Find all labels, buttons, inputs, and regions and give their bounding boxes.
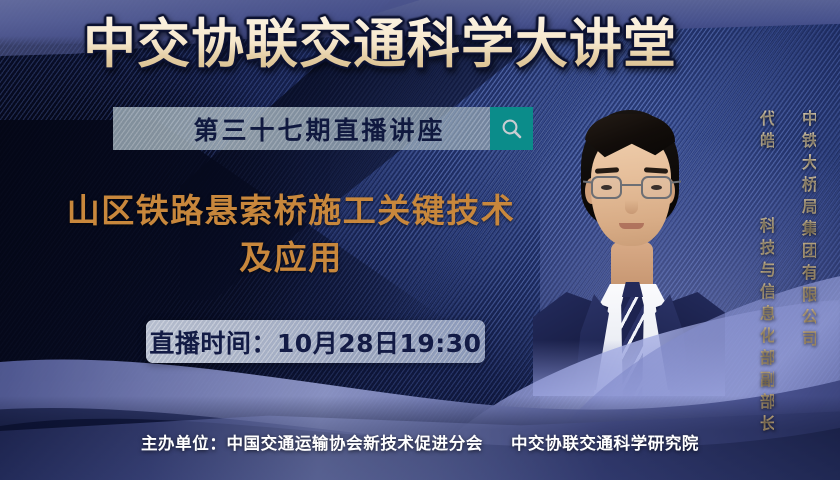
speaker-portrait xyxy=(533,96,725,396)
broadcast-time-label: 直播时间：10月28日19:30 xyxy=(149,324,481,360)
episode-banner-body: 第三十七期直播讲座 xyxy=(113,107,490,150)
necktie xyxy=(619,288,646,396)
glasses-lens-left xyxy=(591,176,622,199)
webinar-poster: 中交协联交通科学大讲堂 第三十七期直播讲座 山区铁路悬索桥施工关键技术 及应用 … xyxy=(0,0,840,480)
lecture-topic-line2: 及应用 xyxy=(26,235,556,282)
nose xyxy=(625,200,638,214)
lecture-topic: 山区铁路悬索桥施工关键技术 及应用 xyxy=(26,188,556,282)
search-button[interactable] xyxy=(490,107,533,150)
episode-banner: 第三十七期直播讲座 xyxy=(113,107,533,150)
broadcast-time-badge: 直播时间：10月28日19:30 xyxy=(146,320,485,363)
lecture-topic-line1: 山区铁路悬索桥施工关键技术 xyxy=(67,191,516,230)
portrait-figure xyxy=(533,96,725,396)
footer-org-2: 中交协联交通科学研究院 xyxy=(511,434,699,453)
speaker-title: 科技与信息化部副部长 xyxy=(757,217,776,437)
glasses-bridge xyxy=(622,184,641,186)
footer-prefix: 主办单位： xyxy=(141,434,227,453)
page-title: 中交协联交通科学大讲堂 xyxy=(0,16,760,73)
speaker-identity: 代皓 科技与信息化部副部长 xyxy=(758,110,774,437)
episode-label: 第三十七期直播讲座 xyxy=(157,111,445,147)
glasses-lens-right xyxy=(641,176,672,199)
speaker-name: 代皓 xyxy=(757,110,776,154)
speaker-organization: 中铁大桥局集团有限公司 xyxy=(800,110,816,352)
footer-org-1: 中国交通运输协会新技术促进分会 xyxy=(226,434,483,453)
mouth xyxy=(619,223,644,229)
footer-organizers: 主办单位：中国交通运输协会新技术促进分会中交协联交通科学研究院 xyxy=(0,430,840,454)
search-icon xyxy=(500,117,524,141)
